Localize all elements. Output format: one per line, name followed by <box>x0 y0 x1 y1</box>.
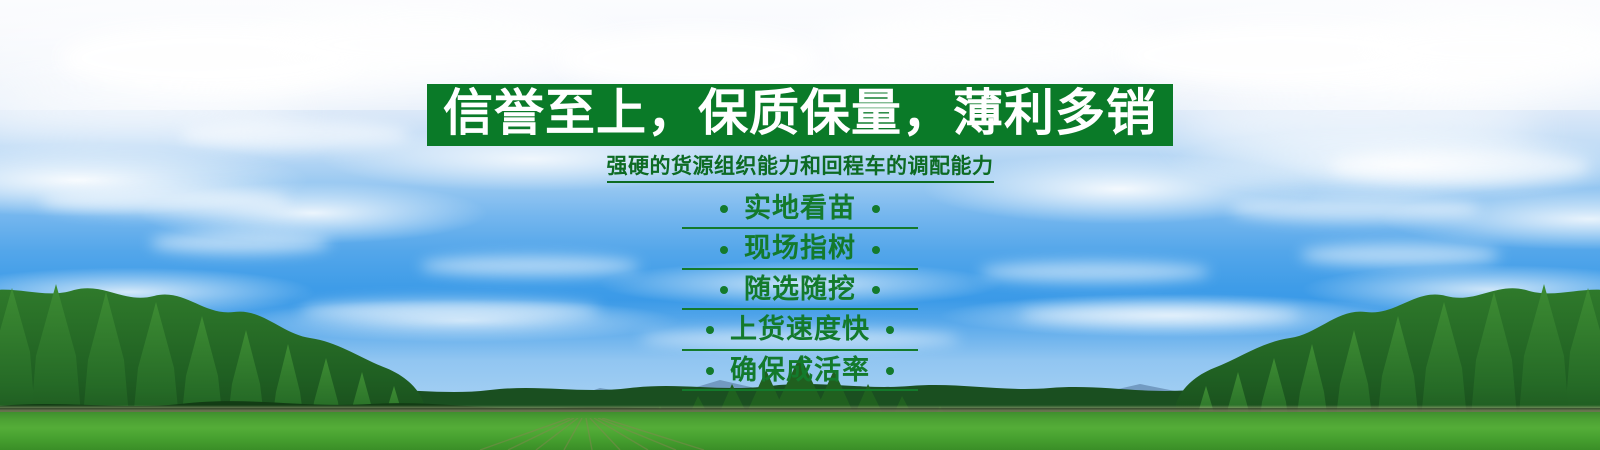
feature-label: 现场指树 <box>744 235 856 263</box>
list-item: 上货速度快 <box>682 316 918 350</box>
feature-label: 确保成活率 <box>730 357 870 385</box>
bullet-dot-icon <box>706 326 714 334</box>
subtitle: 强硬的货源组织能力和回程车的调配能力 <box>607 154 994 183</box>
banner-content: 信誉至上，保质保量，薄利多销 强硬的货源组织能力和回程车的调配能力 实地看苗 现… <box>0 0 1600 450</box>
bullet-dot-icon <box>872 205 880 213</box>
bullet-dot-icon <box>886 367 894 375</box>
feature-list: 实地看苗 现场指树 随选随挖 上货速度快 确保成活率 <box>682 195 918 397</box>
bullet-dot-icon <box>706 367 714 375</box>
page-title: 信誉至上，保质保量，薄利多销 <box>443 88 1157 138</box>
feature-label: 实地看苗 <box>744 195 856 223</box>
feature-label: 上货速度快 <box>730 316 870 344</box>
bullet-dot-icon <box>886 326 894 334</box>
list-item: 现场指树 <box>682 235 918 269</box>
bullet-dot-icon <box>720 286 728 294</box>
headline-bar: 信誉至上，保质保量，薄利多销 <box>427 84 1173 146</box>
bullet-dot-icon <box>720 246 728 254</box>
bullet-dot-icon <box>720 205 728 213</box>
bullet-dot-icon <box>872 286 880 294</box>
list-item: 实地看苗 <box>682 195 918 229</box>
list-item: 随选随挖 <box>682 276 918 310</box>
bullet-dot-icon <box>872 246 880 254</box>
list-item: 确保成活率 <box>682 357 918 391</box>
promo-banner: 信誉至上，保质保量，薄利多销 强硬的货源组织能力和回程车的调配能力 实地看苗 现… <box>0 0 1600 450</box>
feature-label: 随选随挖 <box>744 276 856 304</box>
